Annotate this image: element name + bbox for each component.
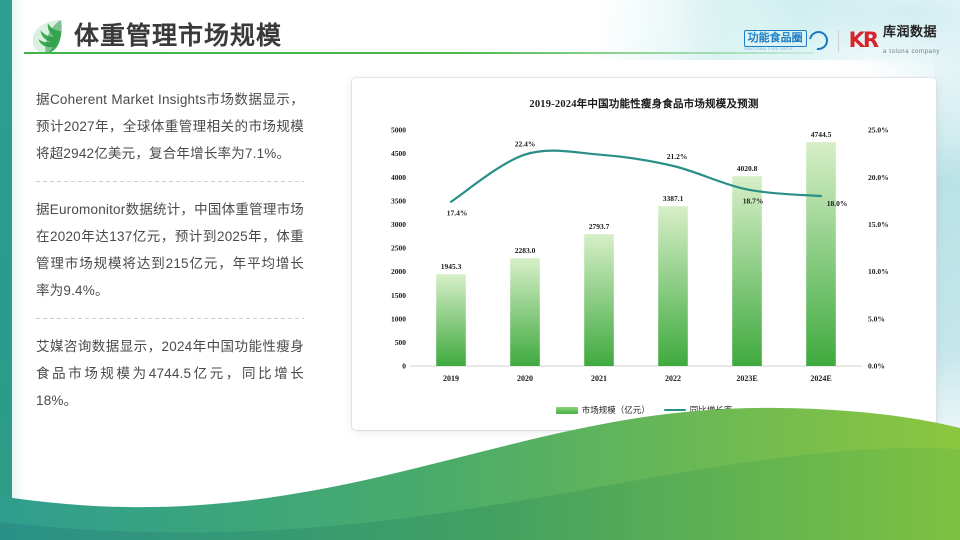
paragraph-2: 据Euromonitor数据统计，中国体重管理市场在2020年达137亿元，预计… xyxy=(36,196,304,304)
legend-swatch-bar-icon xyxy=(556,407,578,414)
svg-text:1000: 1000 xyxy=(391,314,406,323)
svg-text:2019: 2019 xyxy=(443,374,459,383)
svg-text:21.2%: 21.2% xyxy=(667,152,688,161)
paragraph-1: 据Coherent Market Insights市场数据显示，预计2027年，… xyxy=(36,86,304,167)
logo-b-tagline: a toluna company xyxy=(883,49,940,55)
logo-group: 功能食品圈 FUNCTIONAL FOOD CIRCLE KR 库润数据 a t… xyxy=(744,24,940,58)
svg-text:500: 500 xyxy=(395,338,407,347)
svg-text:2020: 2020 xyxy=(517,374,533,383)
svg-text:3387.1: 3387.1 xyxy=(663,194,684,203)
paragraph-separator xyxy=(36,181,304,182)
svg-text:2023E: 2023E xyxy=(736,374,757,383)
slide-canvas: 体重管理市场规模 功能食品圈 FUNCTIONAL FOOD CIRCLE KR… xyxy=(0,0,960,540)
chart-legend: 市场规模（亿元） 同比增长率 xyxy=(352,404,936,416)
svg-text:2021: 2021 xyxy=(591,374,607,383)
paragraph-3: 艾媒咨询数据显示，2024年中国功能性瘦身食品市场规模为4744.5亿元，同比增… xyxy=(36,333,304,414)
paragraph-separator xyxy=(36,318,304,319)
svg-text:3000: 3000 xyxy=(391,220,406,229)
logo-functional-food-circle: 功能食品圈 FUNCTIONAL FOOD CIRCLE xyxy=(744,30,828,51)
leaf-icon xyxy=(30,18,64,54)
svg-text:22.4%: 22.4% xyxy=(515,140,536,149)
svg-text:2024E: 2024E xyxy=(810,374,831,383)
svg-text:25.0%: 25.0% xyxy=(868,126,889,135)
left-text-column: 据Coherent Market Insights市场数据显示，预计2027年，… xyxy=(36,86,304,414)
svg-text:18.0%: 18.0% xyxy=(827,199,848,208)
logo-divider xyxy=(838,30,839,52)
svg-text:0.0%: 0.0% xyxy=(868,362,885,371)
circle-arc-icon xyxy=(805,28,831,54)
left-accent-fade xyxy=(12,0,26,540)
chart-card: 2019-2024年中国功能性瘦身食品市场规模及预测 0500100015002… xyxy=(352,78,936,430)
logo-a-name: 功能食品圈 xyxy=(744,30,807,47)
logo-a-tagline: FUNCTIONAL FOOD CIRCLE xyxy=(744,48,807,51)
svg-text:2000: 2000 xyxy=(391,267,406,276)
legend-item-line: 同比增长率 xyxy=(664,404,733,416)
svg-text:0: 0 xyxy=(402,362,406,371)
svg-text:4744.5: 4744.5 xyxy=(811,130,832,139)
svg-text:4500: 4500 xyxy=(391,149,406,158)
logo-kurun-data: KR 库润数据 a toluna company xyxy=(849,24,940,58)
svg-text:18.7%: 18.7% xyxy=(743,196,764,205)
svg-text:15.0%: 15.0% xyxy=(868,220,889,229)
svg-text:17.4%: 17.4% xyxy=(447,209,468,218)
logo-b-mark: KR xyxy=(849,30,877,51)
chart-plot-area: 0500100015002000250030003500400045005000… xyxy=(352,78,936,430)
svg-text:3500: 3500 xyxy=(391,196,406,205)
svg-text:10.0%: 10.0% xyxy=(868,267,889,276)
svg-text:4020.8: 4020.8 xyxy=(737,164,758,173)
legend-swatch-line-icon xyxy=(664,409,686,411)
legend-label-line: 同比增长率 xyxy=(690,404,733,416)
svg-text:5000: 5000 xyxy=(391,126,406,135)
svg-text:20.0%: 20.0% xyxy=(868,173,889,182)
legend-label-bar: 市场规模（亿元） xyxy=(582,404,650,416)
svg-text:2500: 2500 xyxy=(391,244,406,253)
left-accent-bar xyxy=(0,0,12,540)
svg-text:5.0%: 5.0% xyxy=(868,314,885,323)
title-underline xyxy=(24,52,814,54)
legend-item-bar: 市场规模（亿元） xyxy=(556,404,650,416)
background-decoration-right-strip xyxy=(934,55,960,475)
svg-text:2283.0: 2283.0 xyxy=(515,246,536,255)
page-title: 体重管理市场规模 xyxy=(74,16,282,52)
svg-text:1945.3: 1945.3 xyxy=(441,262,462,271)
svg-text:4000: 4000 xyxy=(391,173,406,182)
svg-text:2022: 2022 xyxy=(665,374,681,383)
svg-text:1500: 1500 xyxy=(391,291,406,300)
svg-text:2793.7: 2793.7 xyxy=(589,222,610,231)
logo-b-name: 库润数据 xyxy=(883,24,937,39)
